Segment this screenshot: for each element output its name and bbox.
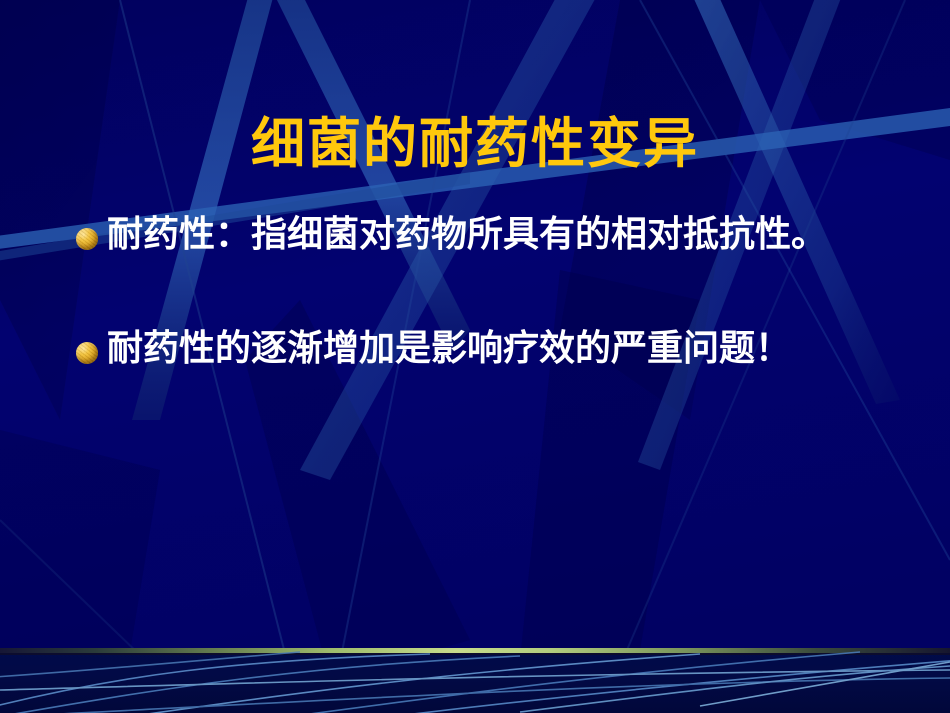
- gold-sphere-bullet-icon: [76, 342, 98, 364]
- list-item: 耐药性的逐渐增加是影响疗效的严重问题！: [76, 326, 936, 372]
- content-body: 耐药性：指细菌对药物所具有的相对抵抗性。 耐药性的逐渐增加是影响疗效的严重问题！: [76, 212, 936, 372]
- bullet-text: 耐药性的逐渐增加是影响疗效的严重问题！: [107, 326, 791, 372]
- gold-sphere-bullet-icon: [76, 228, 98, 250]
- list-item: 耐药性：指细菌对药物所具有的相对抵抗性。: [76, 212, 936, 258]
- band-swoosh-lines: [0, 648, 950, 713]
- presentation-slide: 细菌的耐药性变异 耐药性：指细菌对药物所具有的相对抵抗性。 耐药性的逐渐增加是影…: [0, 0, 950, 713]
- page-title: 细菌的耐药性变异: [251, 114, 699, 173]
- title-block: 细菌的耐药性变异: [0, 78, 950, 210]
- footer-decoration-band: [0, 648, 950, 713]
- divider-shadow-line: [0, 653, 950, 655]
- bullet-text: 耐药性：指细菌对药物所具有的相对抵抗性。: [107, 212, 827, 258]
